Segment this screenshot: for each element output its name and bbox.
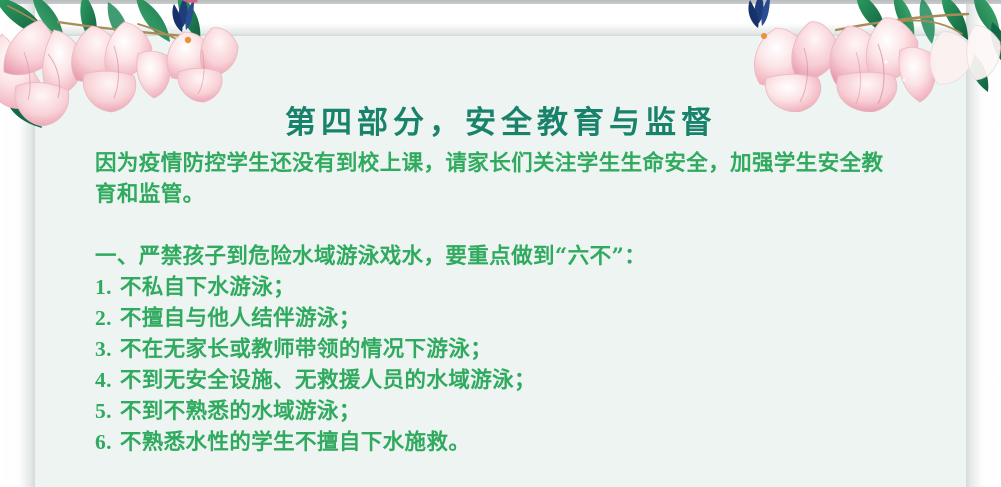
list-item: 2. 不擅自与他人结伴游泳； <box>95 303 905 334</box>
presentation-slide: 第四部分，安全教育与监督 因为疫情防控学生还没有到校上课，请家长们关注学生生命安… <box>0 0 1001 487</box>
list-item-number: 5. <box>95 399 112 423</box>
list-item: 3. 不在无家长或教师带领的情况下游泳； <box>95 334 905 365</box>
list-item-text: 不熟悉水性的学生不擅自下水施救。 <box>120 430 470 455</box>
list-item-text: 不擅自与他人结伴游泳； <box>120 306 361 331</box>
list-item-number: 3. <box>95 337 112 361</box>
list-item: 6. 不熟悉水性的学生不擅自下水施救。 <box>95 427 905 458</box>
list-item: 4. 不到无安全设施、无救援人员的水域游泳； <box>95 365 905 396</box>
list-item-number: 1. <box>95 275 112 299</box>
list-item: 5. 不到不熟悉的水域游泳； <box>95 396 905 427</box>
list-item-text: 不在无家长或教师带领的情况下游泳； <box>120 337 492 362</box>
body-text-block: 因为疫情防控学生还没有到校上课，请家长们关注学生生命安全，加强学生安全教育和监管… <box>95 148 905 458</box>
page-title: 第四部分，安全教育与监督 <box>34 97 968 142</box>
section-heading: 一、严禁孩子到危险水域游泳戏水，要重点做到“六不”： <box>95 241 905 272</box>
page-edge-shadow-top <box>0 4 1001 36</box>
list-item: 1. 不私自下水游泳； <box>95 272 905 303</box>
list-item-number: 6. <box>95 430 112 454</box>
page-edge-shadow-right <box>966 4 1001 487</box>
page-edge-shadow-left <box>0 4 35 487</box>
list-item-number: 2. <box>95 306 112 330</box>
slide-text-content: 第四部分，安全教育与监督 因为疫情防控学生还没有到校上课，请家长们关注学生生命安… <box>34 35 968 487</box>
list-item-text: 不到无安全设施、无救援人员的水域游泳； <box>120 368 536 393</box>
paragraph-spacer <box>95 210 905 241</box>
list-item-number: 4. <box>95 368 112 392</box>
list-item-text: 不到不熟悉的水域游泳； <box>120 399 361 424</box>
list-item-text: 不私自下水游泳； <box>120 275 295 300</box>
intro-paragraph: 因为疫情防控学生还没有到校上课，请家长们关注学生生命安全，加强学生安全教育和监管… <box>95 148 905 210</box>
